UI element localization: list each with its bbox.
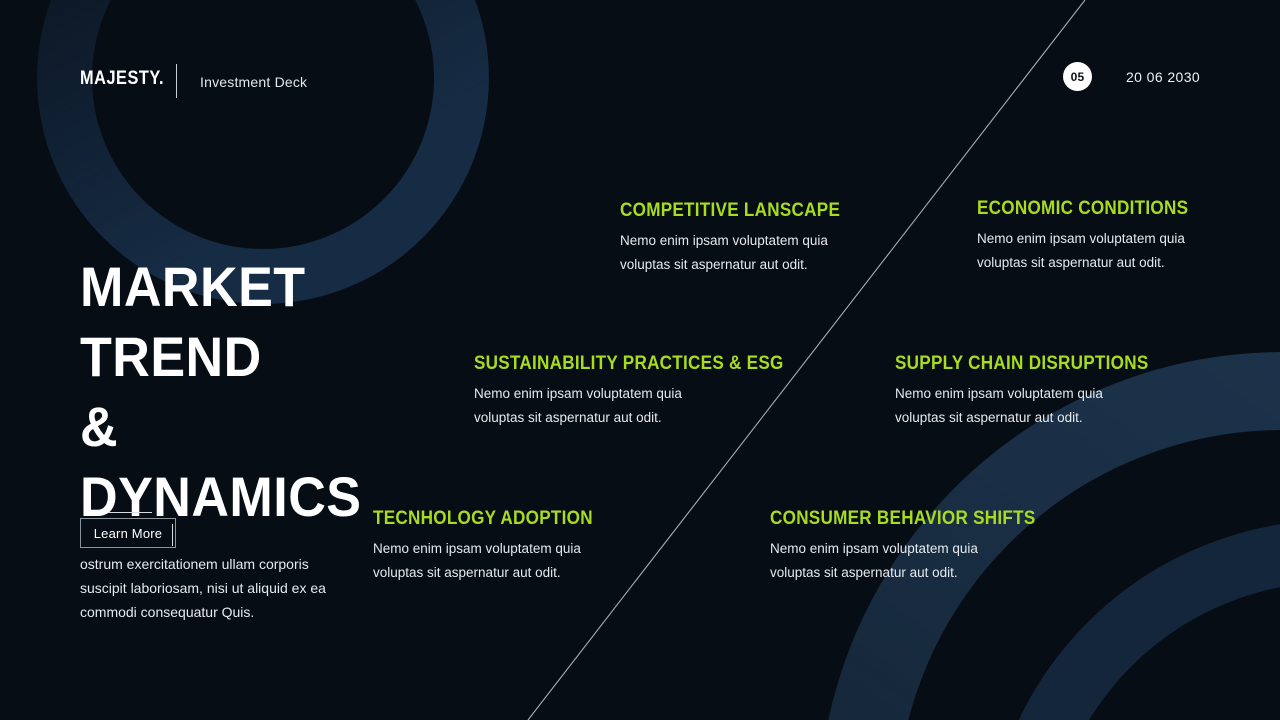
decorative-ring-bottom-right-inner xyxy=(985,520,1280,720)
feature-card-title: ECONOMIC CONDITIONS xyxy=(977,198,1202,220)
feature-card-title: SUPPLY CHAIN DISRUPTIONS xyxy=(895,353,1120,375)
feature-card-title: CONSUMER BEHAVIOR SHIFTS xyxy=(770,508,995,530)
page-title: MARKET TREND & DYNAMICS xyxy=(80,252,396,532)
feature-card-title: COMPETITIVE LANSCAPE xyxy=(620,200,845,222)
feature-card-supply-chain-disruptions: SUPPLY CHAIN DISRUPTIONS Nemo enim ipsam… xyxy=(895,353,1145,430)
feature-card-body: Nemo enim ipsam voluptatem quia voluptas… xyxy=(373,537,608,585)
hero-description: ostrum exercitationem ullam corporis sus… xyxy=(80,552,330,624)
feature-card-competitive-lanscape: COMPETITIVE LANSCAPE Nemo enim ipsam vol… xyxy=(620,200,870,277)
feature-card-consumer-behavior-shifts: CONSUMER BEHAVIOR SHIFTS Nemo enim ipsam… xyxy=(770,508,1020,585)
feature-card-body: Nemo enim ipsam voluptatem quia voluptas… xyxy=(770,537,1005,585)
page-number-badge: 05 xyxy=(1063,62,1092,91)
feature-card-sustainability-practices-esg: SUSTAINABILITY PRACTICES & ESG Nemo enim… xyxy=(474,353,744,430)
brand-logo: MAJESTY. xyxy=(80,68,164,90)
learn-more-button[interactable]: Learn More xyxy=(80,518,176,548)
deck-label: Investment Deck xyxy=(200,74,307,90)
feature-card-title: SUSTAINABILITY PRACTICES & ESG xyxy=(474,353,717,375)
feature-card-body: Nemo enim ipsam voluptatem quia voluptas… xyxy=(474,382,709,430)
feature-card-body: Nemo enim ipsam voluptatem quia voluptas… xyxy=(977,227,1212,275)
presentation-slide: MAJESTY. Investment Deck 05 20 06 2030 M… xyxy=(0,0,1280,720)
feature-card-title: TECNHOLOGY ADOPTION xyxy=(373,508,598,530)
feature-card-body: Nemo enim ipsam voluptatem quia voluptas… xyxy=(895,382,1130,430)
feature-card-economic-conditions: ECONOMIC CONDITIONS Nemo enim ipsam volu… xyxy=(977,198,1227,275)
learn-more-button-group[interactable]: Learn More xyxy=(80,512,190,548)
slide-header: MAJESTY. Investment Deck 05 20 06 2030 xyxy=(0,0,1280,150)
button-accent-top-line xyxy=(108,512,152,513)
header-divider xyxy=(176,64,177,98)
feature-card-body: Nemo enim ipsam voluptatem quia voluptas… xyxy=(620,229,855,277)
slide-date: 20 06 2030 xyxy=(1126,69,1200,85)
feature-card-tecnhology-adoption: TECNHOLOGY ADOPTION Nemo enim ipsam volu… xyxy=(373,508,623,585)
hero-block: MARKET TREND & DYNAMICS ostrum exercitat… xyxy=(80,252,420,624)
